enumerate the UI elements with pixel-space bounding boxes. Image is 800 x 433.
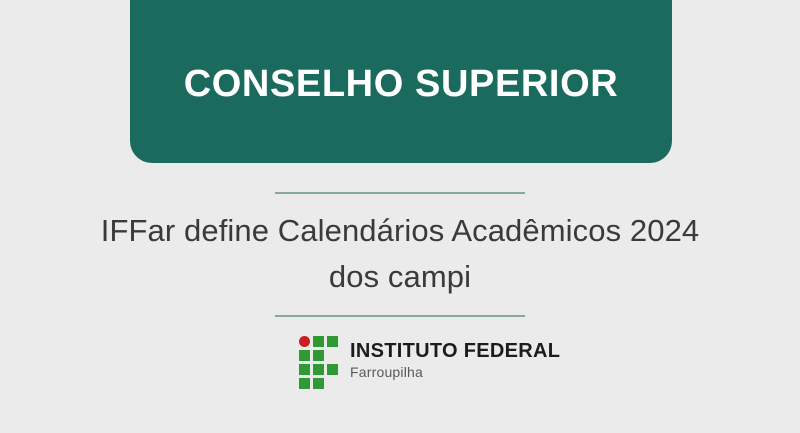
instituto-federal-farroupilha-logo: INSTITUTO FEDERAL Farroupilha — [299, 336, 560, 386]
logo-secondary-text: Farroupilha — [350, 364, 560, 381]
conselho-superior-banner: CONSELHO SUPERIOR — [130, 0, 672, 163]
logo-cell-square-r2c2 — [313, 350, 324, 361]
page-root: CONSELHO SUPERIOR IFFar define Calendári… — [0, 0, 800, 433]
logo-cell-square-r1c3 — [327, 336, 338, 347]
logo-cell-square-r3c3 — [327, 364, 338, 375]
logo-cell-square-r2c1 — [299, 350, 310, 361]
logo-cell-square-r4c1 — [299, 378, 310, 389]
headline-block: IFFar define Calendários Acadêmicos 2024… — [0, 192, 800, 317]
logo-cell-square-r3c1 — [299, 364, 310, 375]
headline-divider-top — [275, 192, 525, 194]
page-title: IFFar define Calendários Acadêmicos 2024… — [80, 208, 720, 300]
logo-cell-square-r3c2 — [313, 364, 324, 375]
logo-wordmark: INSTITUTO FEDERAL Farroupilha — [350, 341, 560, 381]
logo-mark-icon — [299, 336, 341, 386]
logo-cell-square-r1c2 — [313, 336, 324, 347]
logo-primary-text: INSTITUTO FEDERAL — [350, 341, 560, 362]
logo-cell-dot — [299, 336, 310, 347]
banner-title: CONSELHO SUPERIOR — [184, 65, 619, 103]
headline-divider-bottom — [275, 315, 525, 317]
logo-cell-square-r4c2 — [313, 378, 324, 389]
